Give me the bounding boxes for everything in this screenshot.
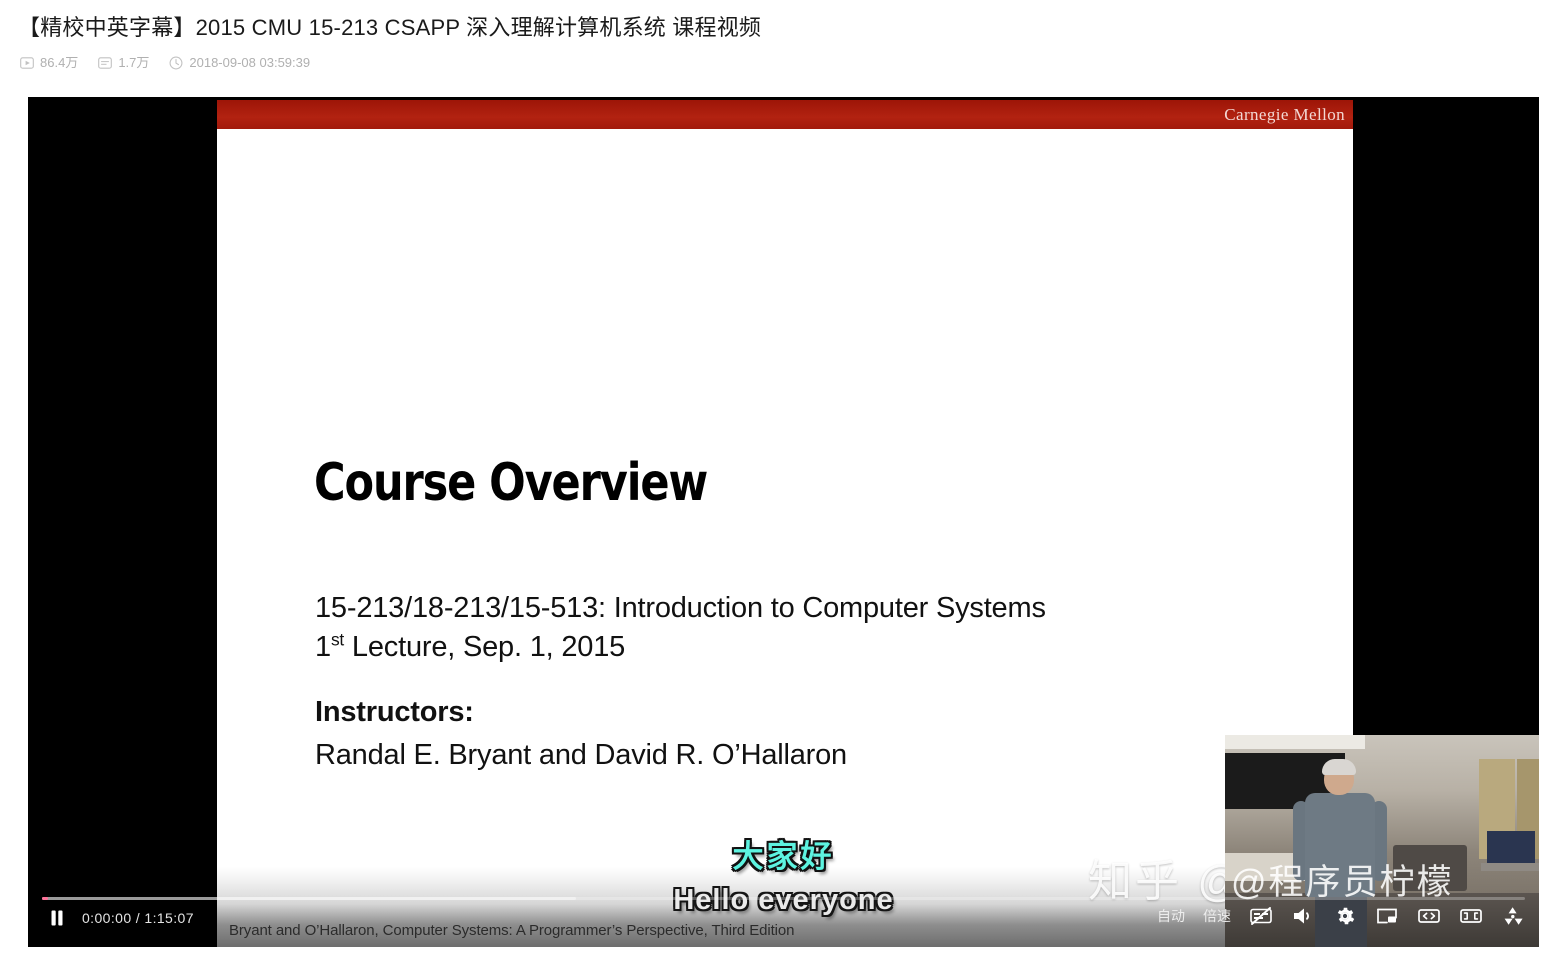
playback-speed-selector[interactable]: 倍速 <box>1203 903 1231 929</box>
slide-title: Course Overview <box>314 454 707 512</box>
controls-right-group: 自动 倍速 <box>1157 903 1525 929</box>
player-control-bar[interactable]: 0:00:00 / 1:15:07 自动 倍速 <box>28 891 1539 947</box>
fullscreen-icon[interactable] <box>1501 904 1525 928</box>
lecture-ordinal-suffix: st <box>331 629 344 649</box>
slide-lecture-line: 1st Lecture, Sep. 1, 2015 <box>315 628 625 666</box>
pip-projection-screen <box>1225 735 1365 749</box>
slide-instructors-label: Instructors: <box>315 693 474 731</box>
pause-icon[interactable] <box>46 907 68 929</box>
controls-left-group: 0:00:00 / 1:15:07 <box>46 907 194 929</box>
picture-in-picture-icon[interactable] <box>1375 904 1399 928</box>
settings-gear-icon[interactable] <box>1333 904 1357 928</box>
meta-publish-time: 2018-09-08 03:59:39 <box>169 52 310 74</box>
danmaku-icon <box>98 56 112 70</box>
meta-danmaku-count: 1.7万 <box>98 52 149 74</box>
video-player[interactable]: Carnegie Mellon Course Overview 15-213/1… <box>28 97 1539 947</box>
time-display: 0:00:00 / 1:15:07 <box>82 907 194 929</box>
meta-danmaku-count-label: 1.7万 <box>118 52 149 74</box>
volume-icon[interactable] <box>1291 904 1315 928</box>
page-title: 【精校中英字幕】2015 CMU 15-213 CSAPP 深入理解计算机系统 … <box>18 12 761 44</box>
slide-banner: Carnegie Mellon <box>217 100 1353 129</box>
subtitle-off-icon[interactable] <box>1249 904 1273 928</box>
slide-body: Course Overview 15-213/18-213/15-513: In… <box>217 129 1353 947</box>
slide-course-line: 15-213/18-213/15-513: Introduction to Co… <box>315 589 1046 627</box>
progress-bar[interactable] <box>42 897 1525 900</box>
pip-lecturer-hair <box>1322 759 1356 775</box>
play-count-icon <box>20 56 34 70</box>
lecture-number: 1 <box>315 631 331 663</box>
quality-selector[interactable]: 自动 <box>1157 903 1185 929</box>
video-meta-row: 86.4万 1.7万 2018-09-08 03:59:39 <box>20 52 310 74</box>
meta-play-count-label: 86.4万 <box>40 52 78 74</box>
slide-instructors-names: Randal E. Bryant and David R. O’Hallaron <box>315 736 847 774</box>
progress-buffered <box>42 897 576 900</box>
lecture-slide: Carnegie Mellon Course Overview 15-213/1… <box>217 100 1353 947</box>
lecture-line-rest: Lecture, Sep. 1, 2015 <box>344 631 625 663</box>
pip-laptop-screen <box>1487 831 1535 865</box>
page-header: 【精校中英字幕】2015 CMU 15-213 CSAPP 深入理解计算机系统 … <box>0 0 1546 97</box>
clock-icon <box>169 56 183 70</box>
progress-played <box>42 897 48 900</box>
widescreen-icon[interactable] <box>1417 904 1441 928</box>
meta-play-count: 86.4万 <box>20 52 78 74</box>
carnegie-mellon-brand: Carnegie Mellon <box>1224 104 1345 125</box>
meta-publish-time-label: 2018-09-08 03:59:39 <box>189 52 310 74</box>
web-fullscreen-icon[interactable] <box>1459 904 1483 928</box>
